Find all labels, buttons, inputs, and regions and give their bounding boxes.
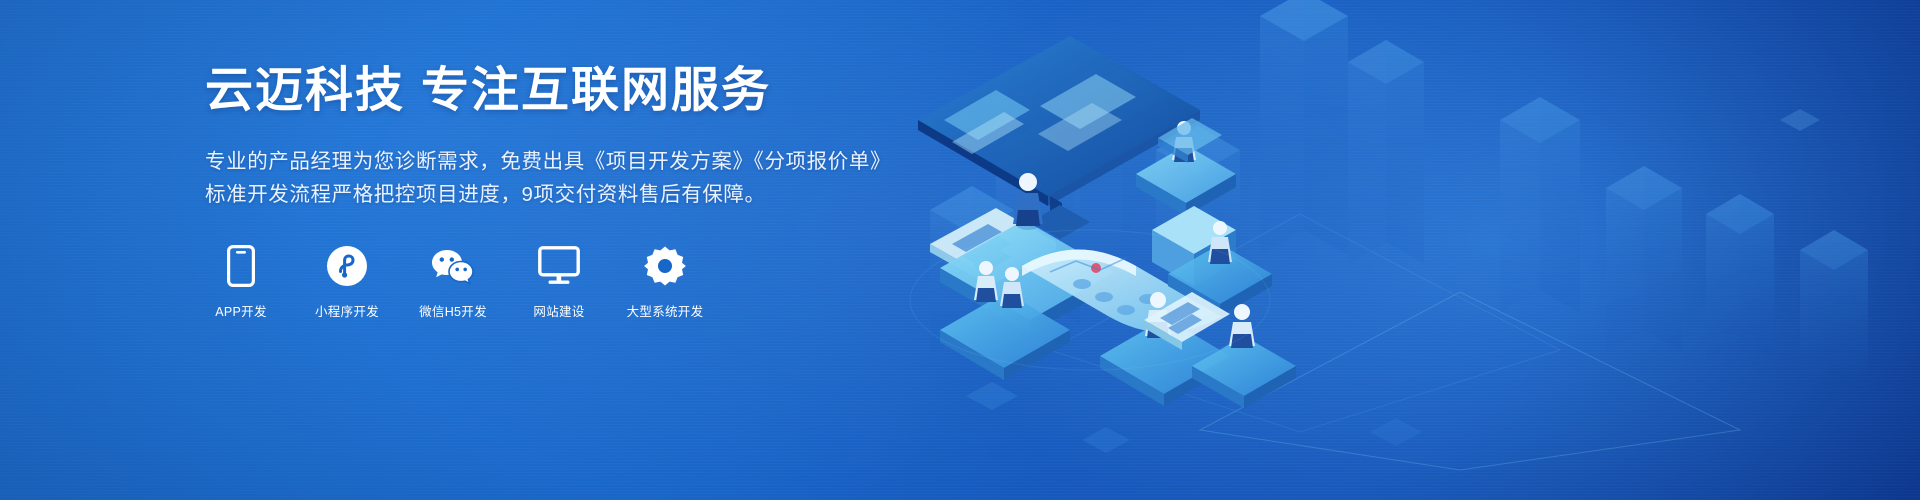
mobile-phone-icon [218,243,264,289]
mini-program-icon [324,243,370,289]
gear-icon [642,243,688,289]
hero-banner: 云迈科技专注互联网服务 专业的产品经理为您诊断需求，免费出具《项目开发方案》《分… [0,0,1920,500]
headline-tagline: 专注互联网服务 [421,64,771,117]
service-item-website[interactable]: 网站建设 [523,243,595,320]
illustration [900,0,1920,500]
wechat-icon [430,243,476,289]
service-list: APP开发 小程序开发 [205,243,905,320]
service-item-miniprogram[interactable]: 小程序开发 [311,243,383,320]
service-item-wechat-h5[interactable]: 微信H5开发 [417,243,489,320]
subtitle-line-2: 标准开发流程严格把控项目进度，9项交付资料售后有保障。 [205,178,905,211]
service-label: 微信H5开发 [419,301,487,320]
headline-brand: 云迈科技 [205,64,405,117]
monitor-icon [536,243,582,289]
service-label: 大型系统开发 [627,301,704,320]
page-title: 云迈科技专注互联网服务 [205,62,905,121]
service-label: 网站建设 [533,301,584,320]
subtitle-line-1: 专业的产品经理为您诊断需求，免费出具《项目开发方案》《分项报价单》 [205,145,905,178]
service-label: APP开发 [215,301,267,320]
service-item-large-system[interactable]: 大型系统开发 [629,243,701,320]
hero-copy: 云迈科技专注互联网服务 专业的产品经理为您诊断需求，免费出具《项目开发方案》《分… [205,62,905,320]
hero-subtitle: 专业的产品经理为您诊断需求，免费出具《项目开发方案》《分项报价单》 标准开发流程… [205,145,905,211]
service-item-app[interactable]: APP开发 [205,243,277,320]
service-label: 小程序开发 [315,301,379,320]
